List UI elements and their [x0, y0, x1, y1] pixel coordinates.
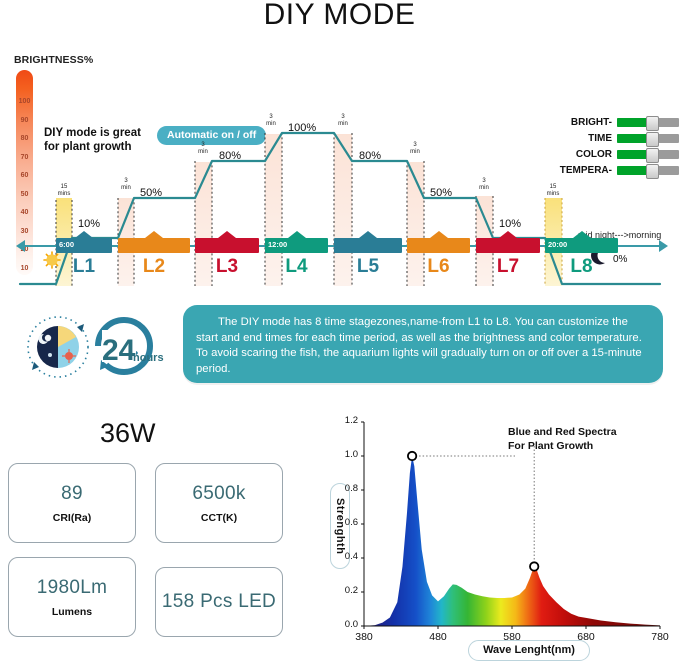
minlabel-2: 3 min	[194, 142, 212, 155]
pct-l1: 10%	[78, 218, 100, 230]
24-hours-icon: 24 hours	[14, 308, 164, 386]
stage-name-l1: L1	[54, 256, 114, 278]
spec-lumens-label: Lumens	[52, 606, 92, 618]
timeline-segment-l4[interactable]: 12:00	[265, 238, 328, 253]
timeline-time-l1: 6:00	[59, 240, 74, 249]
spec-lumens: 1980Lm Lumens	[8, 557, 136, 637]
time-slider-track[interactable]	[617, 134, 679, 143]
spec-cct: 6500k CCT(K)	[155, 463, 283, 543]
minlabel-5: 3 min	[406, 142, 424, 155]
stage-name-l3: L3	[197, 256, 257, 278]
timeline-bump-l1	[75, 231, 93, 238]
pct-l5: 80%	[359, 150, 381, 162]
minlabel-7: 15 mins	[544, 184, 562, 197]
spec-led-count-value: 158 Pcs LED	[162, 591, 276, 613]
timeline-time-l8: 20:00	[548, 240, 567, 249]
minlabel-5-unit: min	[406, 149, 424, 156]
pct-l4: 100%	[288, 122, 316, 134]
minlabel-4-unit: min	[334, 121, 352, 128]
pct-l8: 0%	[613, 254, 627, 265]
timeline-segment-l2[interactable]	[118, 238, 190, 253]
diy-mode-infographic: DIY MODE BRIGHTNESS% 1009080706050403020…	[0, 0, 679, 663]
temperature-slider-track[interactable]	[617, 166, 679, 175]
spec-cct-value: 6500k	[192, 483, 245, 505]
color-slider-track[interactable]	[617, 150, 679, 159]
pct-l2: 50%	[140, 187, 162, 199]
timeline-bump-l3	[218, 231, 236, 238]
svg-text:24: 24	[102, 334, 136, 367]
spectrum-plot	[330, 408, 675, 663]
timeline-segment-l5[interactable]	[334, 238, 402, 253]
temperature-slider-label: TEMPERA-	[560, 165, 612, 176]
stage-name-l6: L6	[409, 256, 469, 278]
temperature-slider-knob[interactable]	[646, 164, 659, 179]
spec-cri-value: 89	[61, 483, 83, 505]
timeline-bump-l4	[288, 231, 306, 238]
spectrum-area	[364, 456, 660, 626]
spec-lumens-value: 1980Lm	[37, 577, 107, 599]
color-slider-label: COLOR	[576, 149, 612, 160]
stage-name-l4: L4	[267, 256, 327, 278]
minlabel-0: 15 mins	[55, 184, 73, 197]
minlabel-6-unit: min	[475, 185, 493, 192]
temperature-slider[interactable]: TEMPERA-	[505, 164, 679, 177]
red-peak-marker	[530, 562, 538, 570]
blue-peak-marker	[408, 452, 416, 460]
spec-cct-label: CCT(K)	[201, 512, 237, 524]
stage-name-l8: L8	[552, 256, 612, 278]
pct-l7: 10%	[499, 218, 521, 230]
timeline-bump-l5	[359, 231, 377, 238]
brightness-slider[interactable]: BRIGHT-	[505, 116, 679, 129]
time-slider-label: TIME	[588, 133, 612, 144]
pct-l3: 80%	[219, 150, 241, 162]
timeline-segment-l3[interactable]	[195, 238, 259, 253]
timeline-segment-l7[interactable]	[476, 238, 540, 253]
pct-l6: 50%	[430, 187, 452, 199]
brightness-slider-knob[interactable]	[646, 116, 659, 131]
spec-cri-label: CRI(Ra)	[53, 512, 92, 524]
minlabel-1: 3 min	[117, 178, 135, 191]
color-slider[interactable]: COLOR	[505, 148, 679, 161]
stage-name-l5: L5	[338, 256, 398, 278]
minlabel-1-unit: min	[117, 185, 135, 192]
page-title: DIY MODE	[0, 0, 679, 32]
svg-text:hours: hours	[133, 352, 164, 364]
time-slider-knob[interactable]	[646, 132, 659, 147]
spectrum-chart: Strenghth Wave Lenght(nm) Blue and Red S…	[330, 408, 675, 663]
minlabel-4: 3 min	[334, 114, 352, 127]
spec-led-count: 158 Pcs LED	[155, 567, 283, 637]
timeline-bump-l8	[573, 231, 591, 238]
timeline-time-l4: 12:00	[268, 240, 287, 249]
timeline-arrow-right	[659, 240, 668, 252]
minlabel-7-unit: mins	[544, 191, 562, 198]
timeline-bump-l7	[499, 231, 517, 238]
wattage-label: 36W	[100, 418, 156, 449]
timeline-bump-l6	[430, 231, 448, 238]
minlabel-3-unit: min	[262, 121, 280, 128]
timeline-segment-l8[interactable]: 20:00	[545, 238, 618, 253]
control-sliders: BRIGHT-TIMECOLORTEMPERA-	[505, 116, 679, 180]
brightness-slider-track[interactable]	[617, 118, 679, 127]
minlabel-6: 3 min	[475, 178, 493, 191]
minlabel-3: 3 min	[262, 114, 280, 127]
stage-name-l7: L7	[478, 256, 538, 278]
timeline-segment-l6[interactable]	[407, 238, 470, 253]
minlabel-2-unit: min	[194, 149, 212, 156]
info-text: The DIY mode has 8 time stagezones,name-…	[183, 305, 663, 377]
timeline-bump-l2	[145, 231, 163, 238]
info-callout-box: The DIY mode has 8 time stagezones,name-…	[183, 305, 663, 383]
brightness-slider-label: BRIGHT-	[571, 117, 612, 128]
stage-name-l2: L2	[124, 256, 184, 278]
timeline-segment-l1[interactable]: 6:00	[56, 238, 112, 253]
spec-cri: 89 CRI(Ra)	[8, 463, 136, 543]
color-slider-knob[interactable]	[646, 148, 659, 163]
time-slider[interactable]: TIME	[505, 132, 679, 145]
minlabel-0-unit: mins	[55, 191, 73, 198]
